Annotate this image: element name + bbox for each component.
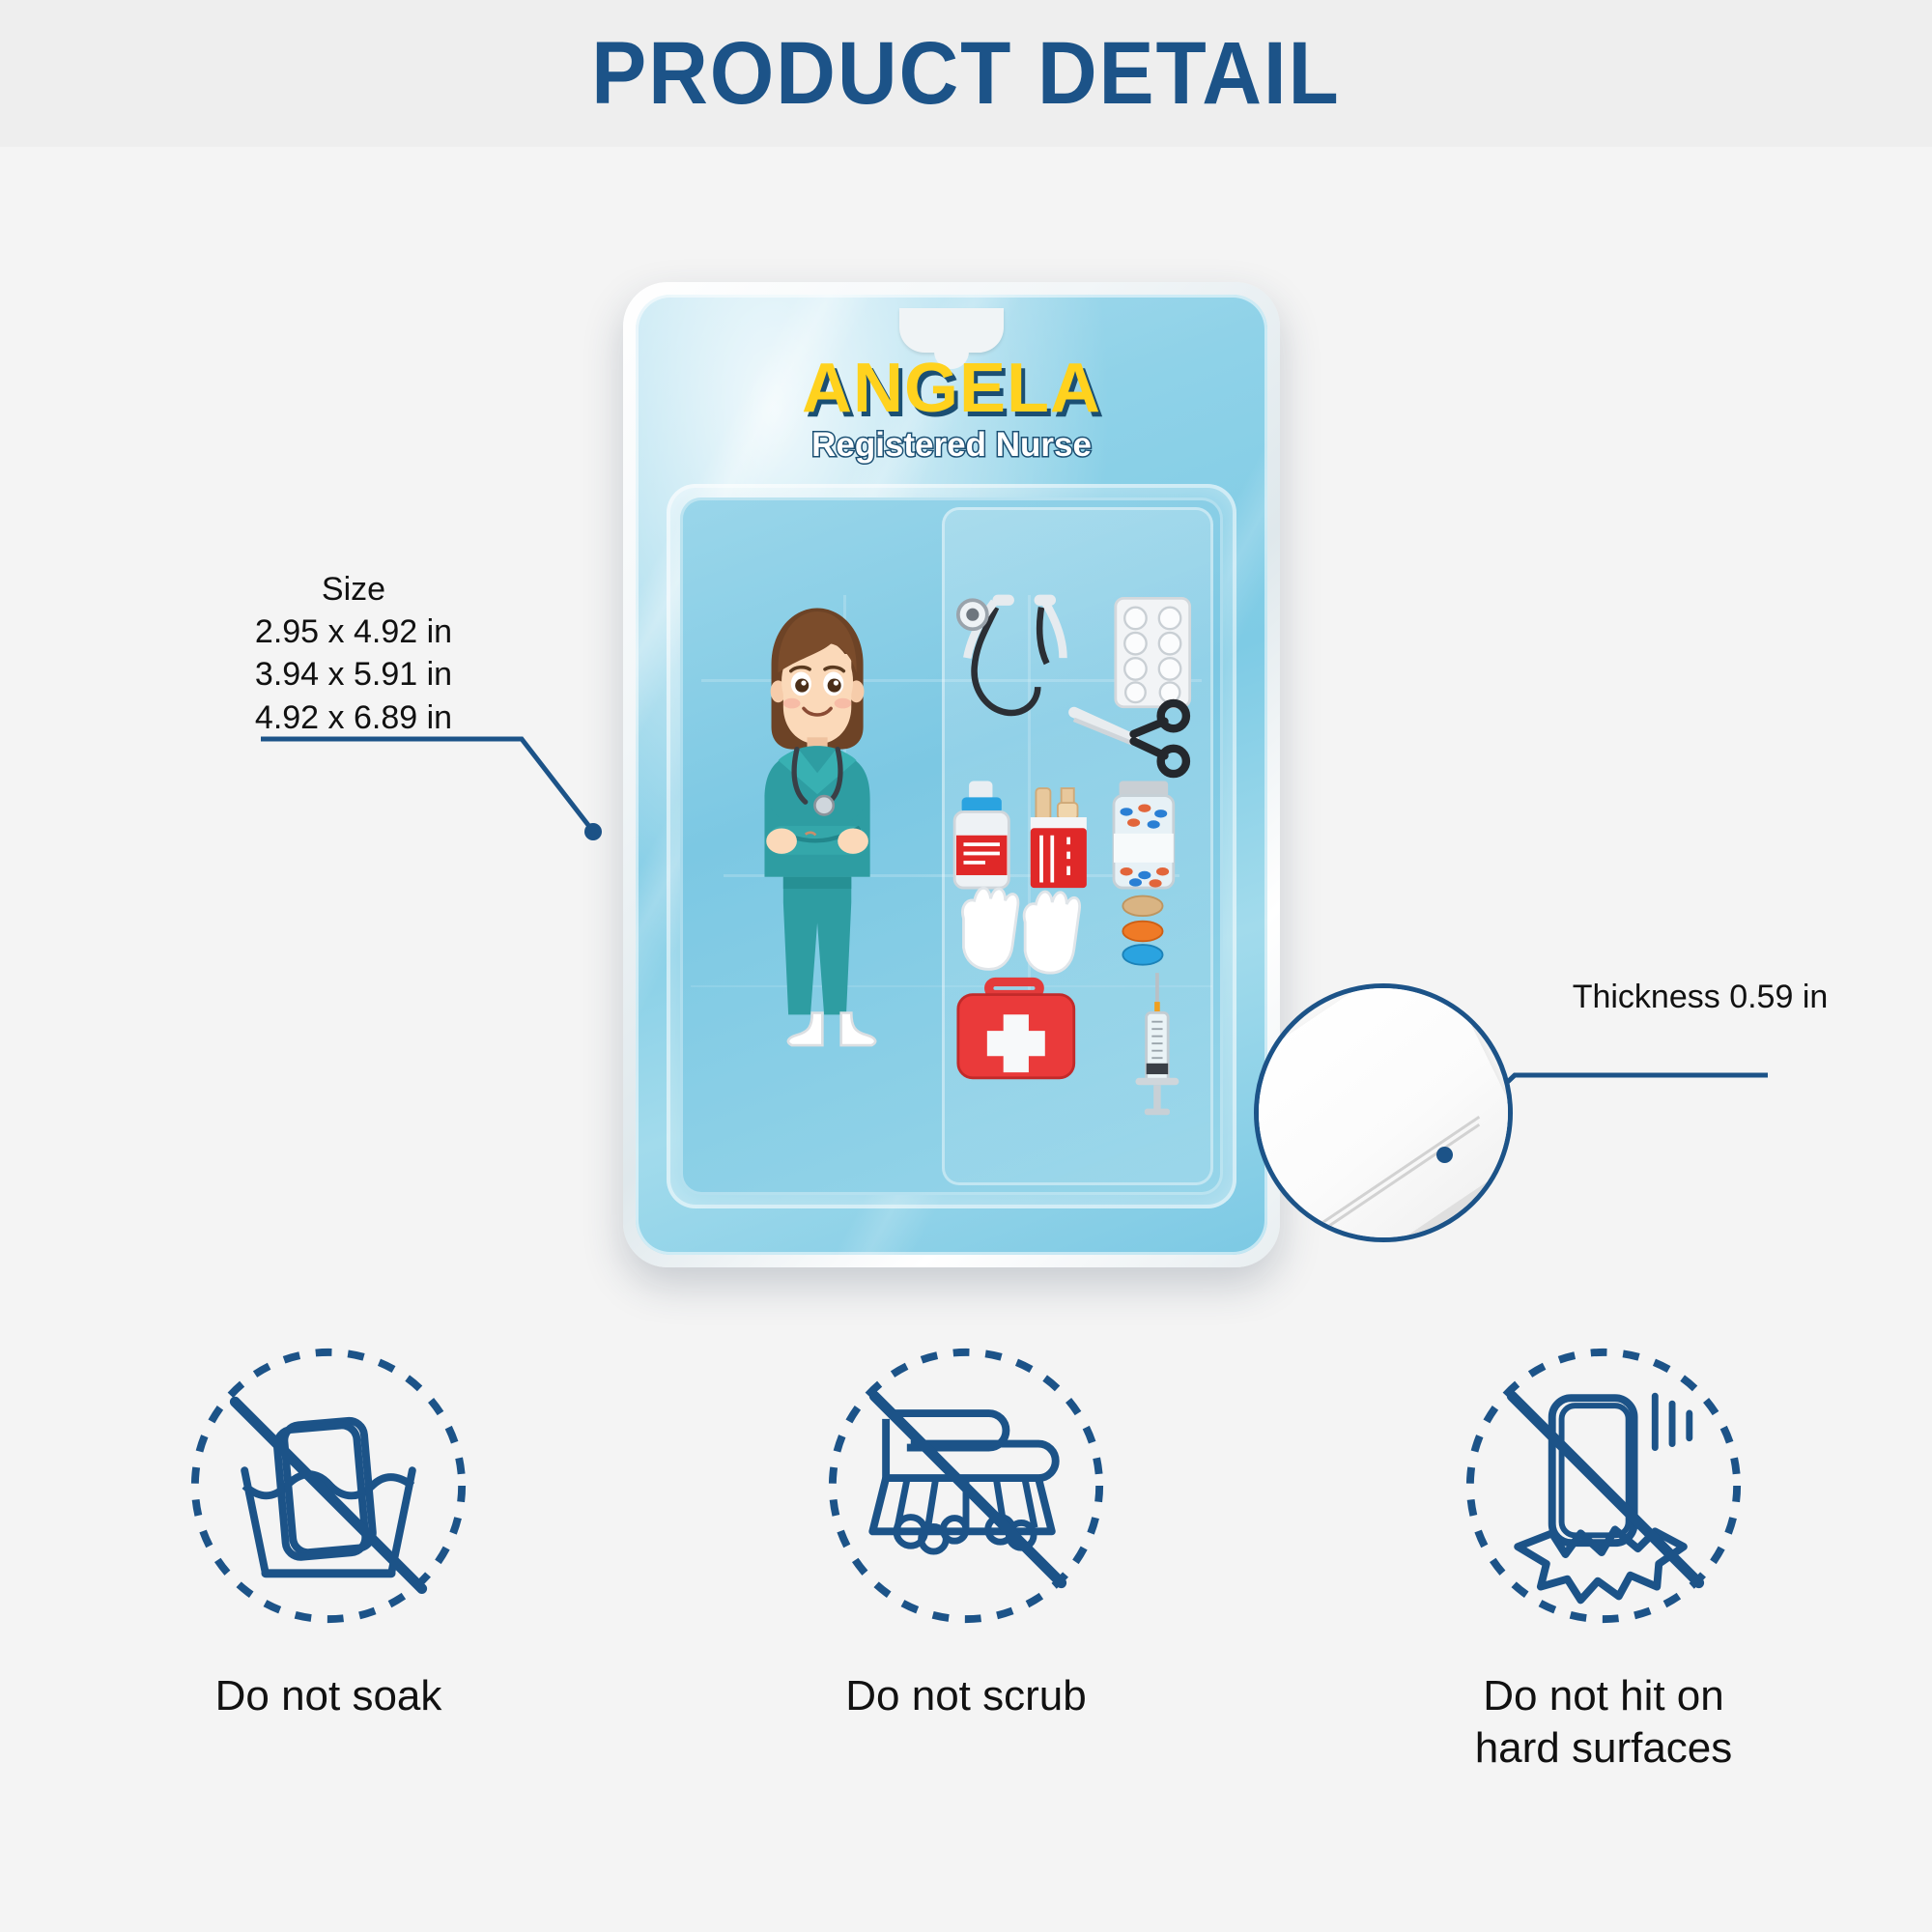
product-detail-page: PRODUCT DETAIL Size 2.95 x 4.92 in 3.94 … xyxy=(0,0,1932,1932)
care-item-no-soak: Do not soak xyxy=(58,1343,599,1722)
nurse-character-icon xyxy=(690,507,945,1185)
pill-jar-icon xyxy=(1114,781,1174,889)
page-title: PRODUCT DETAIL xyxy=(591,23,1340,125)
gloves-icon xyxy=(962,888,1079,973)
package-card: ANGELA Registered Nurse xyxy=(636,295,1267,1255)
size-label: Size xyxy=(189,568,518,611)
thickness-label: Thickness xyxy=(1573,979,1720,1015)
care-item-no-scrub: Do not scrub xyxy=(696,1343,1236,1722)
size-option-2: 3.94 x 5.91 in xyxy=(189,653,518,696)
thickness-zoom-circle xyxy=(1254,983,1513,1242)
no-scrub-icon xyxy=(823,1343,1109,1629)
no-soak-icon xyxy=(185,1343,471,1629)
no-hit-icon xyxy=(1461,1343,1747,1629)
thickness-annotation: Thickness 0.59 in xyxy=(1555,976,1845,1018)
scissors-icon xyxy=(1074,703,1186,774)
stethoscope-icon xyxy=(958,600,1064,713)
blister-bubble xyxy=(667,484,1236,1208)
pill-blister-icon xyxy=(1116,598,1190,706)
care-label-no-soak: Do not soak xyxy=(58,1670,599,1722)
first-aid-kit-icon xyxy=(958,982,1074,1078)
thickness-marker-dot xyxy=(1436,1147,1453,1163)
size-annotation: Size 2.95 x 4.92 in 3.94 x 5.91 in 4.92 … xyxy=(189,568,518,739)
size-option-3: 4.92 x 6.89 in xyxy=(189,696,518,739)
product-name: ANGELA xyxy=(636,349,1267,428)
product-edge-closeup xyxy=(1254,983,1513,1242)
medicine-bottle-icon xyxy=(954,781,1009,889)
accessory-tray xyxy=(942,507,1213,1185)
bandage-box-icon xyxy=(1031,788,1087,888)
bubble-interior xyxy=(680,497,1223,1195)
character-illustration xyxy=(690,507,945,1185)
size-option-1: 2.95 x 4.92 in xyxy=(189,611,518,653)
care-item-no-hit: Do not hit onhard surfaces xyxy=(1333,1343,1874,1774)
syringe-icon xyxy=(1135,973,1179,1115)
product-package: ANGELA Registered Nurse xyxy=(623,282,1280,1267)
care-label-no-hit: Do not hit onhard surfaces xyxy=(1333,1670,1874,1774)
page-header: PRODUCT DETAIL xyxy=(0,0,1932,147)
hang-hole xyxy=(899,308,1004,353)
product-role: Registered Nurse xyxy=(636,426,1267,465)
tablet-icon xyxy=(1122,896,1162,965)
care-label-no-scrub: Do not scrub xyxy=(696,1670,1236,1722)
thickness-value: 0.59 in xyxy=(1729,979,1828,1015)
care-instructions: Do not soak Do not scrub xyxy=(0,1343,1932,1845)
